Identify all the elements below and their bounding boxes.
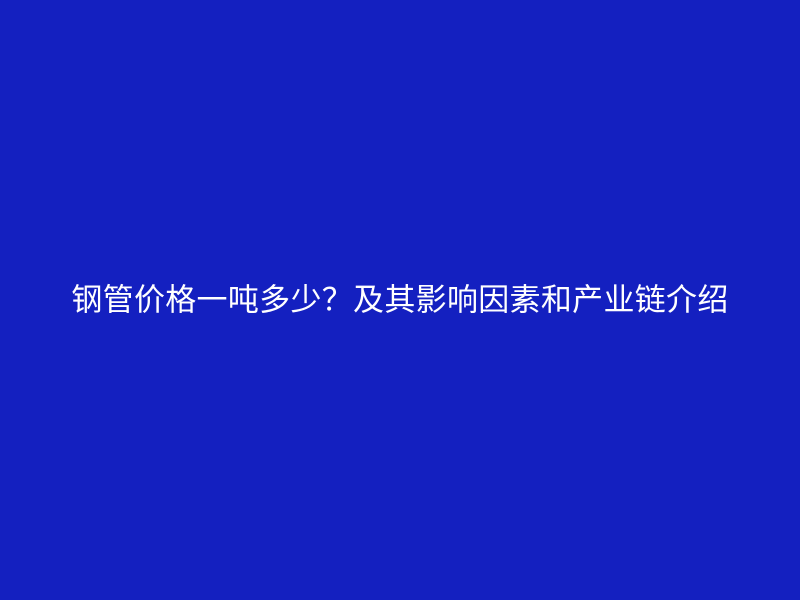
page-title: 钢管价格一吨多少？及其影响因素和产业链介绍 bbox=[71, 282, 728, 321]
title-card-banner: 钢管价格一吨多少？及其影响因素和产业链介绍 bbox=[0, 0, 800, 600]
title-block: 钢管价格一吨多少？及其影响因素和产业链介绍 bbox=[0, 282, 800, 321]
